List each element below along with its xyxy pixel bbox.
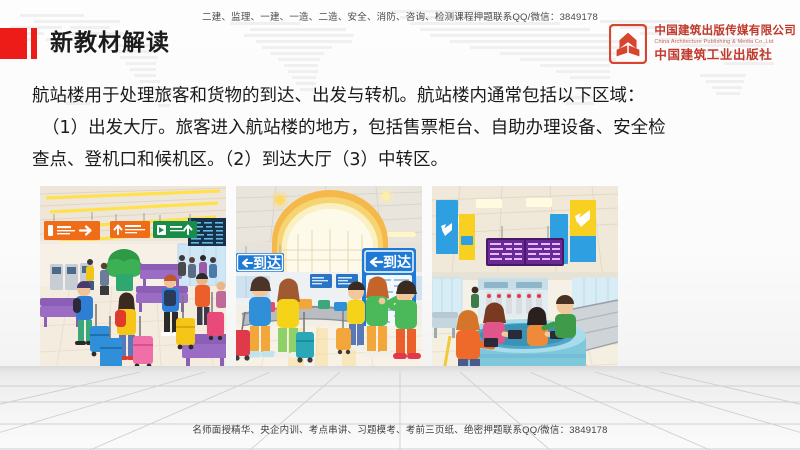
body-copy: 航站楼用于处理旅客和货物的到达、出发与转机。航站楼内通常包括以下区域： （1）出… <box>32 80 776 176</box>
footer-promo-text: 名师面授精华、央企内训、考点串讲、习题模考、考前三页纸、绝密押题联系QQ/微信：… <box>0 422 800 436</box>
illustration-strip: 到达 到达 <box>40 186 618 383</box>
body-line-3: 查点、登机口和候机区。（2）到达大厅（3）中转区。 <box>32 144 776 176</box>
floor-perspective-grid <box>0 372 800 450</box>
body-line-1: 航站楼用于处理旅客和货物的到达、出发与转机。航站楼内通常包括以下区域： <box>32 80 776 112</box>
svg-text:到达: 到达 <box>253 255 281 272</box>
arrival-hall-illustration: 到达 到达 <box>236 186 422 383</box>
departure-hall-illustration <box>40 186 226 383</box>
slide-canvas: 二建、监理、一建、一造、二造、安全、消防、咨询、检测课程押题联系QQ/微信：38… <box>0 0 800 450</box>
publisher-logo: 中国建筑出版传媒有限公司 China Architecture Publishi… <box>609 24 796 64</box>
floor-grid-lines <box>0 372 800 450</box>
slide-header: 二建、监理、一建、一造、二造、安全、消防、咨询、检测课程押题联系QQ/微信：38… <box>0 0 800 72</box>
title-accent-bar <box>31 28 37 59</box>
promo-kicker-text: 二建、监理、一建、一造、二造、安全、消防、咨询、检测课程押题联系QQ/微信：38… <box>0 9 800 23</box>
publisher-company-cn: 中国建筑出版传媒有限公司 <box>654 26 796 38</box>
body-line-2: （1）出发大厅。旅客进入航站楼的地方，包括售票柜台、自助办理设备、安全检 <box>32 112 776 144</box>
page-title-text: 新教材解读 <box>50 32 170 55</box>
publisher-company-en: China Architecture Publishing & Media Co… <box>654 40 796 46</box>
book-emblem-icon <box>609 24 647 64</box>
publisher-press-cn: 中国建筑工业出版社 <box>654 49 796 62</box>
page-title: 新教材解读 <box>0 28 170 59</box>
transfer-area-illustration <box>432 186 618 383</box>
floor-band <box>0 372 800 450</box>
publisher-text-lines: 中国建筑出版传媒有限公司 China Architecture Publishi… <box>654 26 796 61</box>
title-accent-block <box>0 28 27 59</box>
svg-text:到达: 到达 <box>383 254 411 271</box>
